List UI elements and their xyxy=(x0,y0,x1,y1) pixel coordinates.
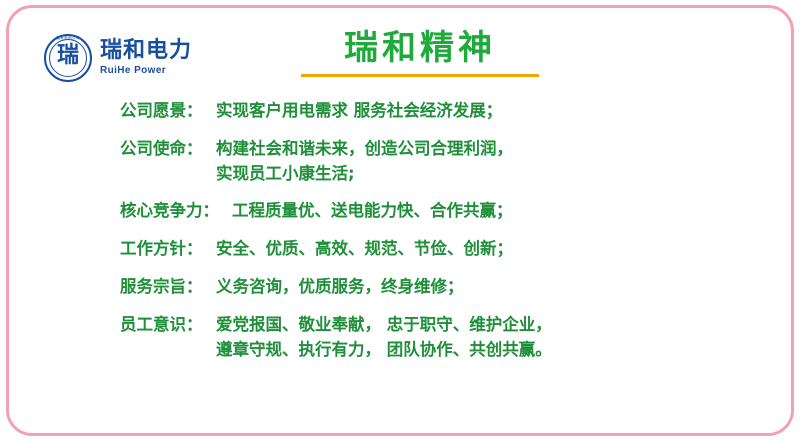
mission-label: 公司使命： xyxy=(120,136,216,161)
page-title: 瑞和精神 xyxy=(270,26,570,70)
core-competence-line-1: 工程质量优、送电能力快、合作共赢； xyxy=(232,201,513,220)
vision-line-1: 实现客户用电需求 服务社会经济发展； xyxy=(216,101,502,120)
mission-line-1: 构建社会和谐未来，创造公司合理利润， xyxy=(216,139,513,158)
vision-label: 公司愿景： xyxy=(120,98,216,123)
service-purpose-line-1: 义务咨询，优质服务，终身维修； xyxy=(216,277,464,296)
logo-company-name-cn: 瑞和电力 xyxy=(100,40,192,62)
service-purpose-value: 义务咨询，优质服务，终身维修； xyxy=(216,274,720,299)
work-policy-line-1: 安全、优质、高效、规范、节俭、创新； xyxy=(216,239,513,258)
service-purpose-label: 服务宗旨： xyxy=(120,274,216,299)
vision-value: 实现客户用电需求 服务社会经济发展； xyxy=(216,98,720,123)
core-competence-value: 工程质量优、送电能力快、合作共赢； xyxy=(232,198,720,223)
emblem-glyph: 瑞 xyxy=(44,43,92,69)
list-item-core-competence: 核心竞争力： 工程质量优、送电能力快、合作共赢； xyxy=(120,198,720,223)
staff-awareness-label: 员工意识： xyxy=(120,312,216,337)
emblem-arc-text: 国家电网公司 xyxy=(44,36,92,41)
list-item-service-purpose: 服务宗旨： 义务咨询，优质服务，终身维修； xyxy=(120,274,720,299)
company-logo: 国家电网公司 瑞 瑞和电力 RuiHe Power xyxy=(44,28,234,88)
list-item-mission: 公司使命： 构建社会和谐未来，创造公司合理利润， 实现员工小康生活; xyxy=(120,136,720,186)
list-item-work-policy: 工作方针： 安全、优质、高效、规范、节俭、创新； xyxy=(120,236,720,261)
mission-value: 构建社会和谐未来，创造公司合理利润， 实现员工小康生活; xyxy=(216,136,720,186)
staff-awareness-value: 爱党报国、敬业奉献， 忠于职守、维护企业， 遵章守规、执行有力， 团队协作、共创… xyxy=(216,312,720,362)
mission-line-2: 实现员工小康生活; xyxy=(216,161,720,186)
core-competence-label: 核心竞争力： xyxy=(120,198,232,223)
title-underline xyxy=(301,74,539,77)
work-policy-value: 安全、优质、高效、规范、节俭、创新； xyxy=(216,236,720,261)
state-grid-emblem-icon: 国家电网公司 瑞 xyxy=(44,34,92,82)
list-item-vision: 公司愿景： 实现客户用电需求 服务社会经济发展； xyxy=(120,98,720,123)
logo-company-name-en: RuiHe Power xyxy=(100,66,192,76)
slide-canvas: 国家电网公司 瑞 瑞和电力 RuiHe Power 瑞和精神 公司愿景： 实现客… xyxy=(0,0,800,441)
list-item-staff-awareness: 员工意识： 爱党报国、敬业奉献， 忠于职守、维护企业， 遵章守规、执行有力， 团… xyxy=(120,312,720,362)
logo-wordmark: 瑞和电力 RuiHe Power xyxy=(100,40,192,76)
work-policy-label: 工作方针： xyxy=(120,236,216,261)
staff-awareness-line-1: 爱党报国、敬业奉献， 忠于职守、维护企业， xyxy=(216,315,552,334)
spirit-list: 公司愿景： 实现客户用电需求 服务社会经济发展； 公司使命： 构建社会和谐未来，… xyxy=(120,98,720,375)
staff-awareness-line-2: 遵章守规、执行有力， 团队协作、共创共赢。 xyxy=(216,337,720,362)
slide-title-block: 瑞和精神 xyxy=(270,26,570,77)
